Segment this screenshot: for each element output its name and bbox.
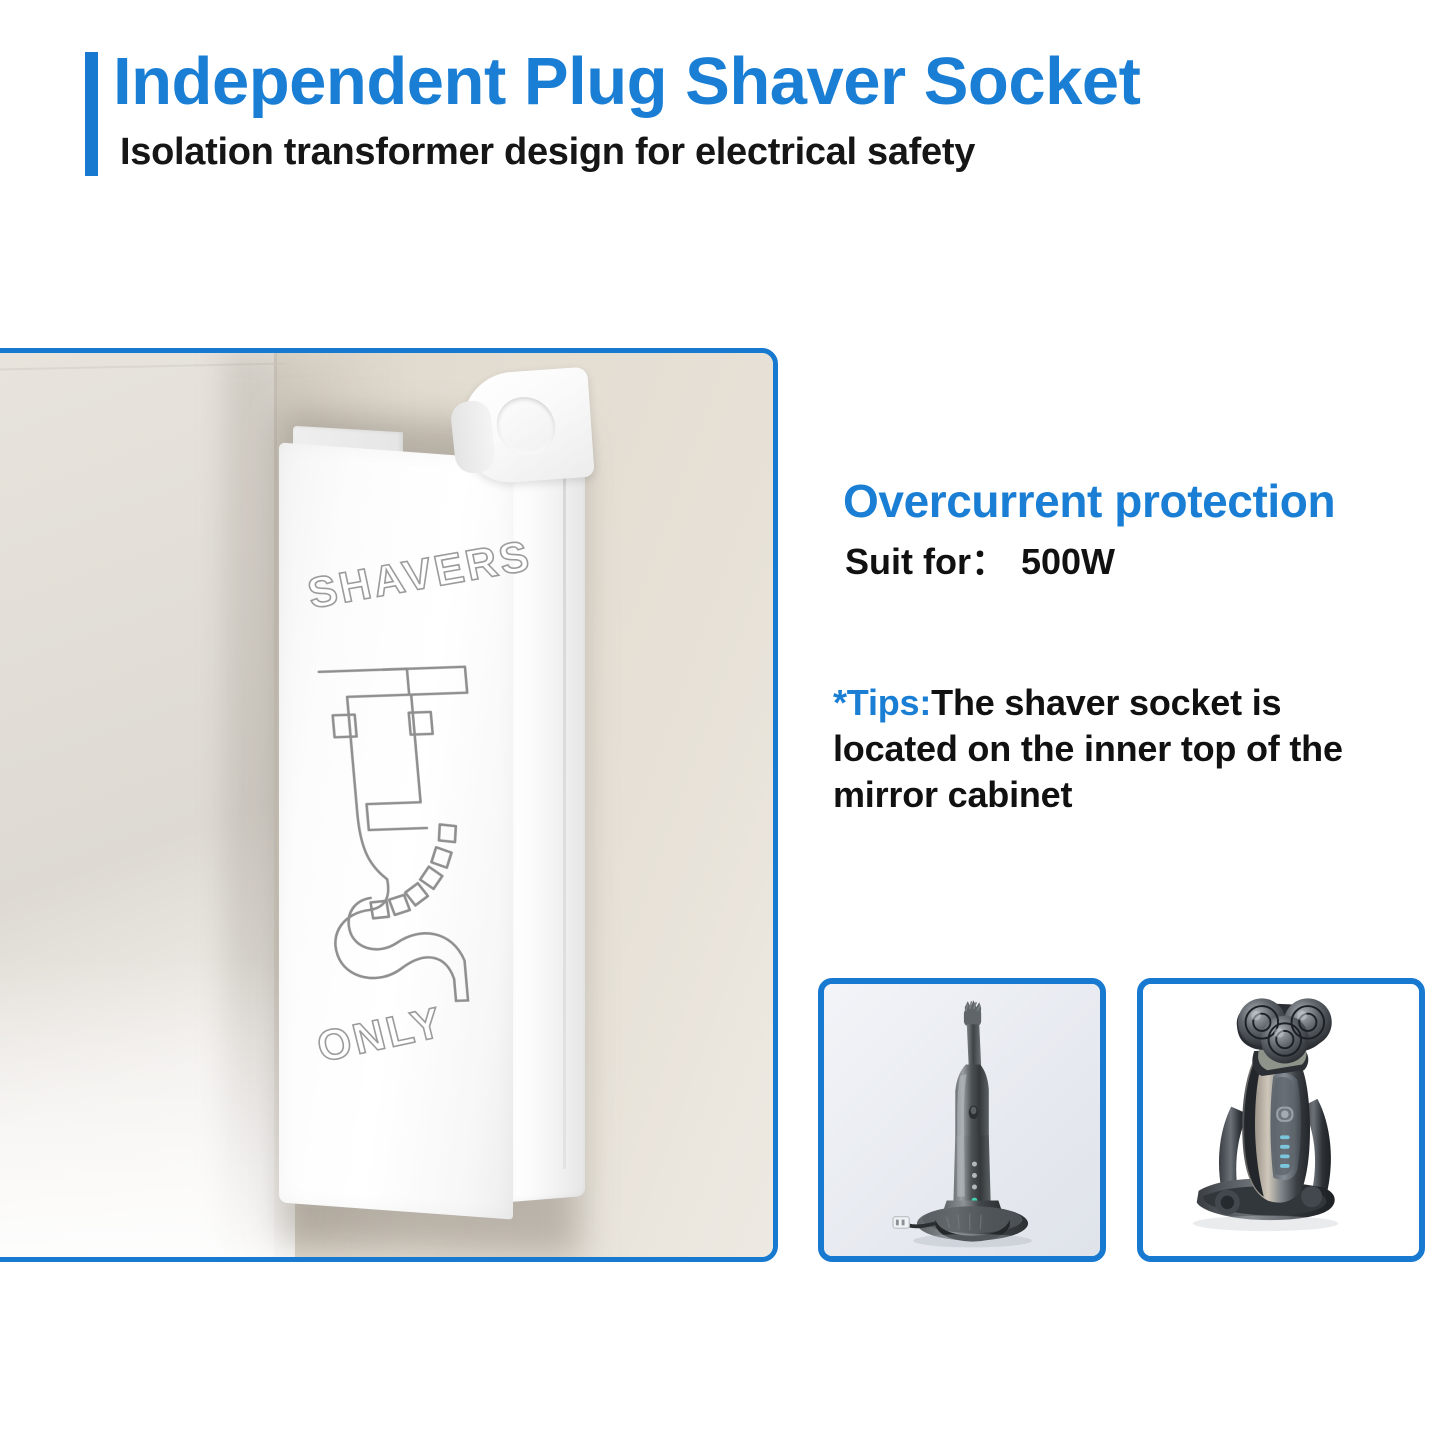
shaver-image bbox=[1143, 984, 1419, 1256]
socket-hinge bbox=[449, 399, 496, 475]
toothbrush-image bbox=[824, 984, 1100, 1256]
overcurrent-protection-heading: Overcurrent protection bbox=[843, 478, 1335, 524]
page-subtitle: Isolation transformer design for electri… bbox=[120, 133, 975, 171]
socket-side-face bbox=[509, 406, 585, 1202]
header-accent-bar bbox=[85, 52, 98, 176]
electric-shaver-thumbnail bbox=[1137, 978, 1425, 1262]
page-title: Independent Plug Shaver Socket bbox=[113, 48, 1140, 115]
suit-for-row: Suit for：500W bbox=[845, 544, 1115, 580]
main-product-photo: SHAVERS bbox=[0, 348, 778, 1262]
shaver-socket-unit: SHAVERS bbox=[271, 363, 601, 1253]
socket-side-seam bbox=[563, 439, 566, 1169]
electric-toothbrush-thumbnail bbox=[818, 978, 1106, 1262]
suit-for-value: 500W bbox=[1021, 541, 1115, 582]
tips-label: *Tips: bbox=[833, 682, 931, 723]
infographic-page: Independent Plug Shaver Socket Isolation… bbox=[0, 0, 1445, 1445]
tips-block: *Tips:The shaver socket is located on th… bbox=[833, 680, 1393, 818]
shaver-plug-symbol-icon bbox=[277, 648, 519, 1014]
suit-for-label: Suit for： bbox=[845, 541, 1007, 582]
photo-scene: SHAVERS bbox=[0, 353, 773, 1257]
wall-light-glow bbox=[0, 957, 295, 1257]
